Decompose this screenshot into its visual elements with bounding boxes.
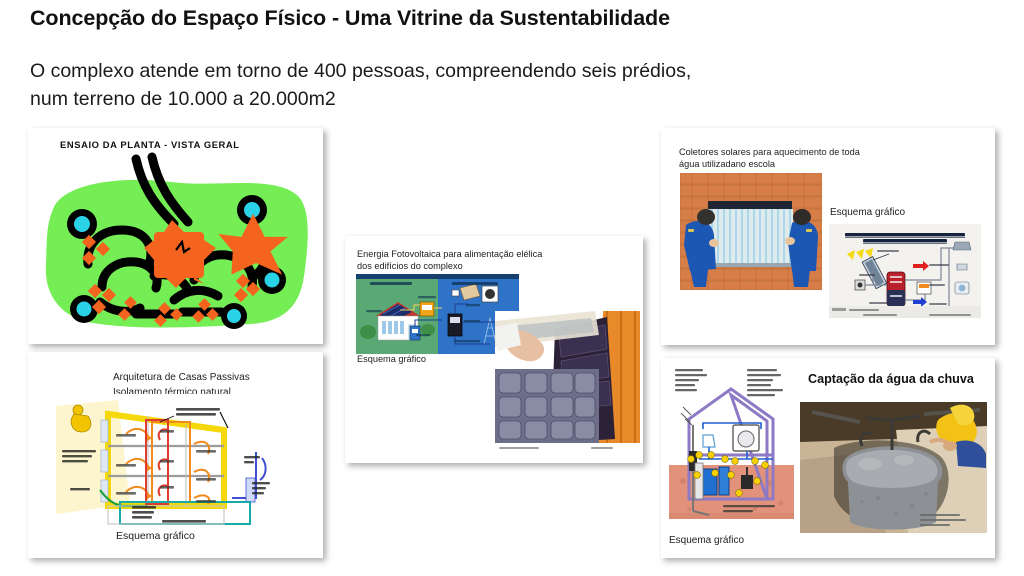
rain-card-title: Captação da água da chuva (808, 372, 974, 386)
slide-canvas: Concepção do Espaço Físico - Uma Vitrine… (0, 0, 1024, 576)
card-ensaio-da-planta[interactable]: ENSAIO DA PLANTA - VISTA GERAL (28, 128, 323, 344)
solar-schema-label: Esquema gráfico (830, 207, 905, 218)
rainwater-cistern-photo (800, 402, 987, 533)
card-energia-fotovoltaica[interactable]: Energia Fotovoltaica para alimentação el… (345, 236, 643, 463)
photovoltaic-caption: Energia Fotovoltaica para alimentação el… (357, 248, 597, 273)
site-plan-illustration (36, 152, 316, 337)
rain-schema-label: Esquema gráfico (669, 535, 744, 546)
photovoltaic-roof-photo (495, 311, 640, 455)
plant-card-title: ENSAIO DA PLANTA - VISTA GERAL (60, 139, 240, 150)
page-title: Concepção do Espaço Físico - Uma Vitrine… (30, 6, 670, 31)
rainwater-system-diagram (669, 363, 794, 530)
passive-schema-label: Esquema gráfico (116, 530, 195, 542)
solar-thermal-schema-diagram (829, 224, 981, 318)
card-coletores-solares[interactable]: Coletores solares para aquecimento de to… (661, 128, 995, 345)
page-subtitle: O complexo atende em torno de 400 pessoa… (30, 58, 691, 113)
solar-collector-photo (680, 173, 822, 290)
photovoltaic-schema-label: Esquema gráfico (357, 354, 426, 364)
passive-house-schema-diagram (56, 394, 296, 527)
card-casas-passivas[interactable]: Arquitetura de Casas Passivas Isolamento… (28, 352, 323, 558)
solar-caption: Coletores solares para aquecimento de to… (679, 146, 929, 171)
card-captacao-agua-chuva[interactable]: Captação da água da chuva (661, 358, 995, 558)
